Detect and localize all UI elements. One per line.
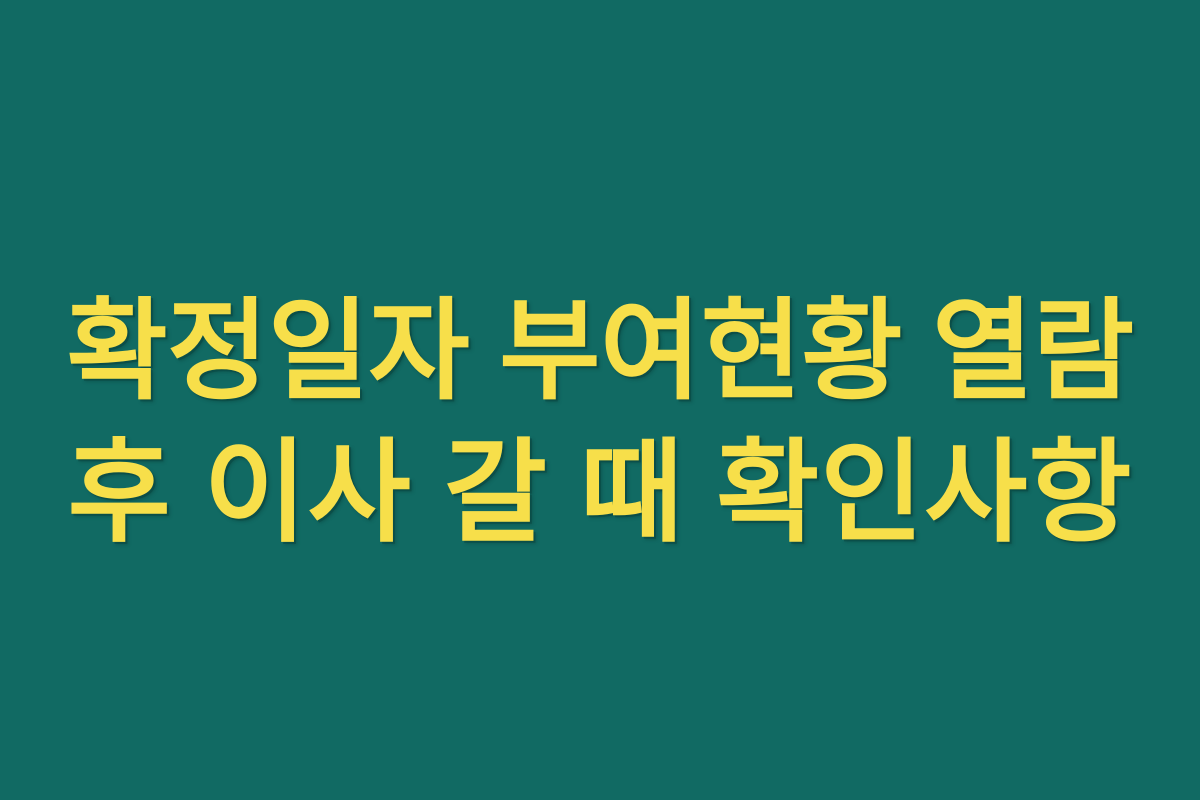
- headline-line-1: 확정일자 부여현황 열람: [40, 282, 1160, 422]
- headline-block: 확정일자 부여현황 열람 후 이사 갈 때 확인사항: [0, 282, 1200, 564]
- headline-line-2: 후 이사 갈 때 확인사항: [40, 422, 1160, 564]
- banner-canvas: 확정일자 부여현황 열람 후 이사 갈 때 확인사항: [0, 0, 1200, 800]
